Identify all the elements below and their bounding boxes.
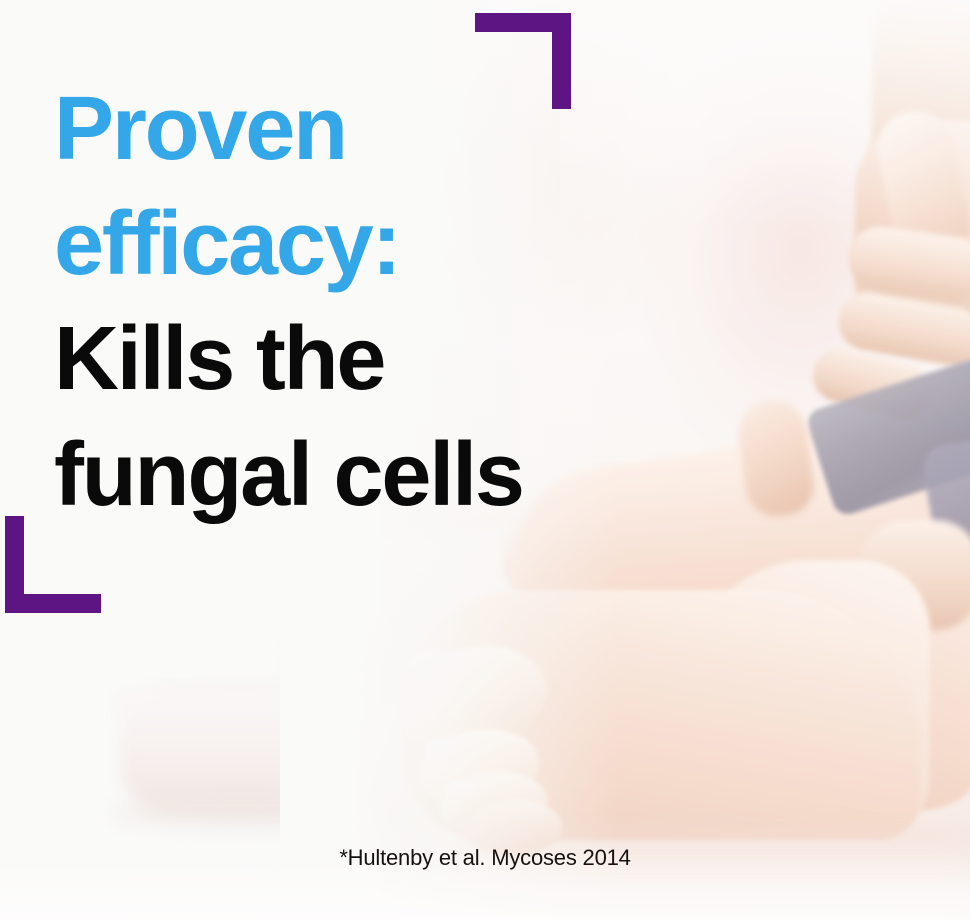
headline-line-1: Proven xyxy=(54,72,674,187)
headline: Proven efficacy: Kills the fungal cells xyxy=(54,72,674,533)
headline-line-3: Kills the xyxy=(54,302,674,417)
advertisement-canvas: Proven efficacy: Kills the fungal cells … xyxy=(0,0,970,921)
footnote-text: *Hultenby et al. Mycoses 2014 xyxy=(339,845,630,871)
footnote-citation: *Hultenby et al. Mycoses 2014 xyxy=(0,845,970,871)
bracket-arm-horizontal xyxy=(5,594,101,613)
headline-line-2: efficacy: xyxy=(54,187,674,302)
headline-line-4: fungal cells xyxy=(54,418,674,533)
